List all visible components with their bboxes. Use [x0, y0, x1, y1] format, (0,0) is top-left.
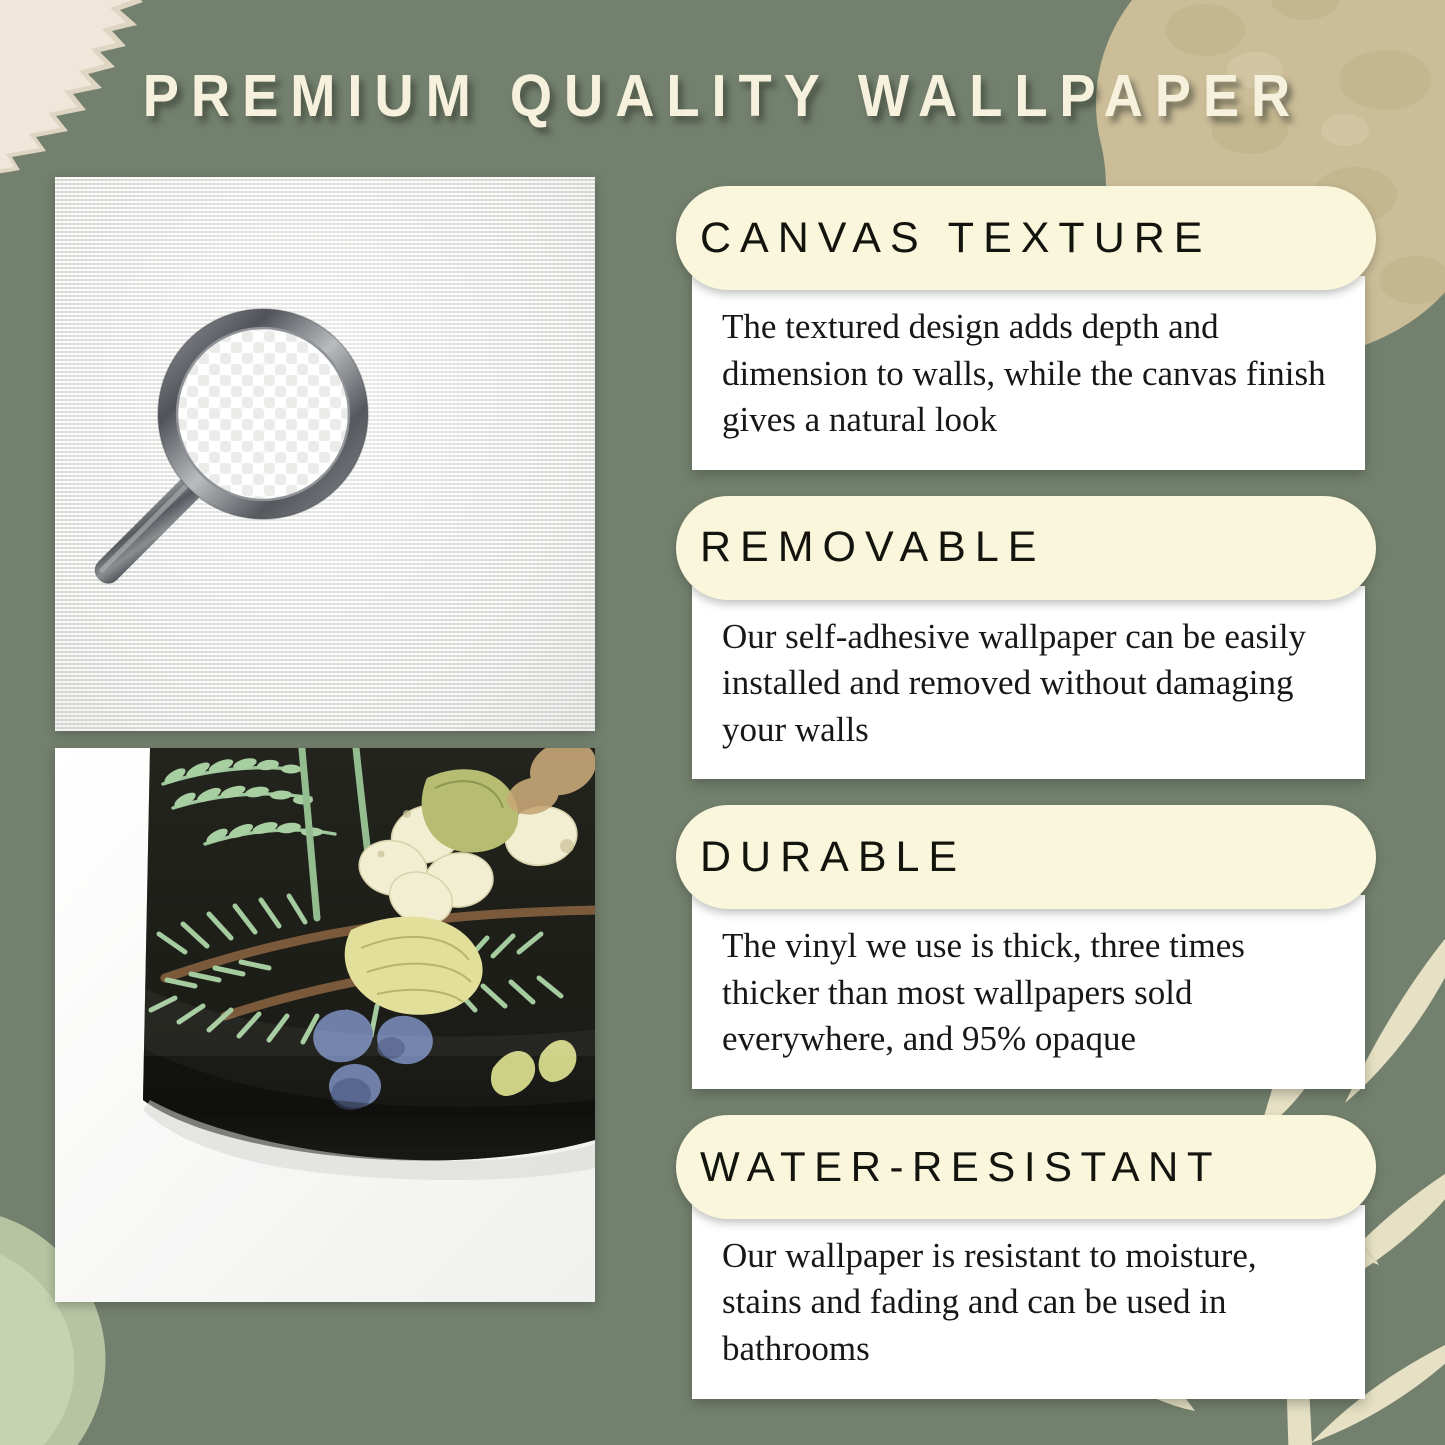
canvas-texture-photo: [55, 177, 595, 731]
feature-heading-pill: CANVAS TEXTURE: [676, 186, 1376, 290]
feature-body: Our self-adhesive wallpaper can be easil…: [692, 586, 1365, 780]
feature-body-text: Our self-adhesive wallpaper can be easil…: [722, 614, 1339, 754]
feature-body-text: The textured design adds depth and dimen…: [722, 304, 1339, 444]
feature-card-water-resistant: WATER-RESISTANT Our wallpaper is resista…: [676, 1115, 1376, 1399]
feature-heading-pill: DURABLE: [676, 805, 1376, 909]
feature-heading: DURABLE: [700, 836, 966, 879]
wallpaper-roll-photo: [55, 748, 595, 1302]
feature-heading: CANVAS TEXTURE: [700, 217, 1212, 260]
feature-heading-pill: WATER-RESISTANT: [676, 1115, 1376, 1219]
feature-body: The vinyl we use is thick, three times t…: [692, 895, 1365, 1089]
feature-card-list: CANVAS TEXTURE The textured design adds …: [676, 186, 1376, 1399]
feature-card-removable: REMOVABLE Our self-adhesive wallpaper ca…: [676, 496, 1376, 780]
feature-card-durable: DURABLE The vinyl we use is thick, three…: [676, 805, 1376, 1089]
feature-body-text: Our wallpaper is resistant to moisture, …: [722, 1233, 1339, 1373]
feature-body-text: The vinyl we use is thick, three times t…: [722, 923, 1339, 1063]
magnifying-glass-icon: [55, 177, 595, 731]
feature-body: Our wallpaper is resistant to moisture, …: [692, 1205, 1365, 1399]
feature-heading-pill: REMOVABLE: [676, 496, 1376, 600]
feature-heading: WATER-RESISTANT: [700, 1146, 1221, 1188]
feature-body: The textured design adds depth and dimen…: [692, 276, 1365, 470]
page-title: PREMIUM QUALITY WALLPAPER: [58, 62, 1387, 130]
feature-card-canvas-texture: CANVAS TEXTURE The textured design adds …: [676, 186, 1376, 470]
photo-column: [55, 177, 595, 1302]
feature-heading: REMOVABLE: [700, 526, 1045, 569]
infographic-canvas: PREMIUM QUALITY WALLPAPER: [0, 0, 1445, 1445]
botanical-wallpaper-roll: [55, 748, 595, 1302]
